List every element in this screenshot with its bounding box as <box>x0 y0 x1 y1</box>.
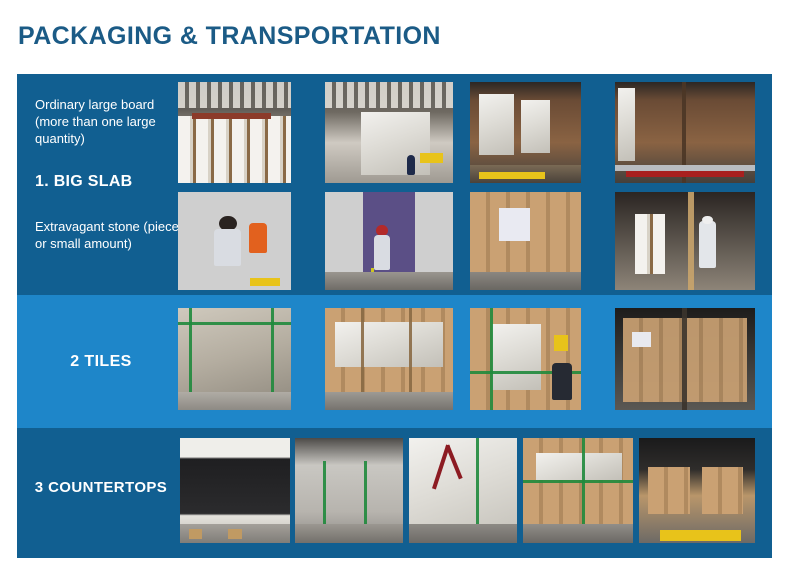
page-title: PACKAGING & TRANSPORTATION <box>18 22 441 51</box>
big-slab-description-top: Ordinary large board (more than one larg… <box>35 96 185 147</box>
photo-tile-pallets-wooden-crates[interactable] <box>325 308 453 410</box>
big-slab-description-bottom: Extravagant stone (piece or small amount… <box>35 218 185 252</box>
photo-loaded-container-rear-doors[interactable] <box>615 82 755 183</box>
photo-grey-countertops-strapped[interactable] <box>295 438 403 543</box>
photo-workers-inspecting-granite-slab[interactable] <box>178 192 291 290</box>
photo-wrapped-white-slabs-warehouse[interactable] <box>178 82 291 183</box>
photo-worker-loading-crate-container[interactable] <box>615 192 755 290</box>
packaging-panel: Ordinary large board (more than one larg… <box>17 74 772 558</box>
photo-slabs-loading-into-truck[interactable] <box>325 82 453 183</box>
band-tiles: 2 TILES <box>17 295 772 428</box>
countertops-heading: 3 COUNTERTOPS <box>17 479 185 496</box>
photo-tile-bundle-green-straps[interactable] <box>178 308 291 410</box>
photo-slabs-inside-container[interactable] <box>470 82 581 183</box>
photo-countertop-crates-in-container[interactable] <box>639 438 755 543</box>
band-countertops: 3 COUNTERTOPS <box>17 428 772 558</box>
photo-tiles-loaded-in-container[interactable] <box>615 308 755 410</box>
band-big-slab: Ordinary large board (more than one larg… <box>17 74 772 295</box>
tiles-heading: 2 TILES <box>17 353 185 371</box>
photo-countertop-crates-strapped[interactable] <box>523 438 633 543</box>
photo-black-countertop-on-pallet[interactable] <box>180 438 290 543</box>
photo-slab-warehouse-aisle[interactable] <box>325 192 453 290</box>
photo-white-wrapped-bundle-straps[interactable] <box>409 438 517 543</box>
big-slab-heading: 1. BIG SLAB <box>35 173 185 191</box>
photo-tile-crate-being-moved[interactable] <box>470 308 581 410</box>
photo-wooden-crates-with-slabs[interactable] <box>470 192 581 290</box>
